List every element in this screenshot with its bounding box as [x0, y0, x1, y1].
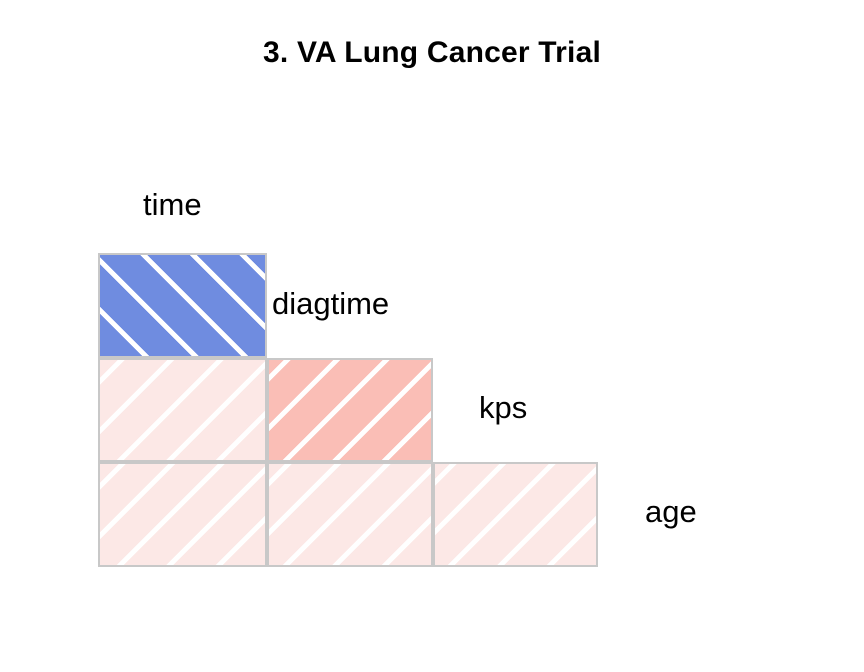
corr-cell-time-kps[interactable]	[98, 358, 267, 463]
corr-cell-diagtime-age[interactable]	[267, 462, 433, 567]
corr-cell-time-diagtime[interactable]	[98, 253, 267, 358]
variable-label-diagtime: diagtime	[272, 288, 389, 319]
corr-cell-diagtime-kps[interactable]	[267, 358, 433, 463]
corr-cell-time-age[interactable]	[98, 462, 267, 567]
page-title: 3. VA Lung Cancer Trial	[0, 36, 864, 70]
variable-label-age: age	[645, 496, 697, 527]
variable-label-kps: kps	[479, 392, 527, 423]
corr-cell-kps-age[interactable]	[433, 462, 598, 567]
variable-label-time: time	[143, 189, 202, 220]
